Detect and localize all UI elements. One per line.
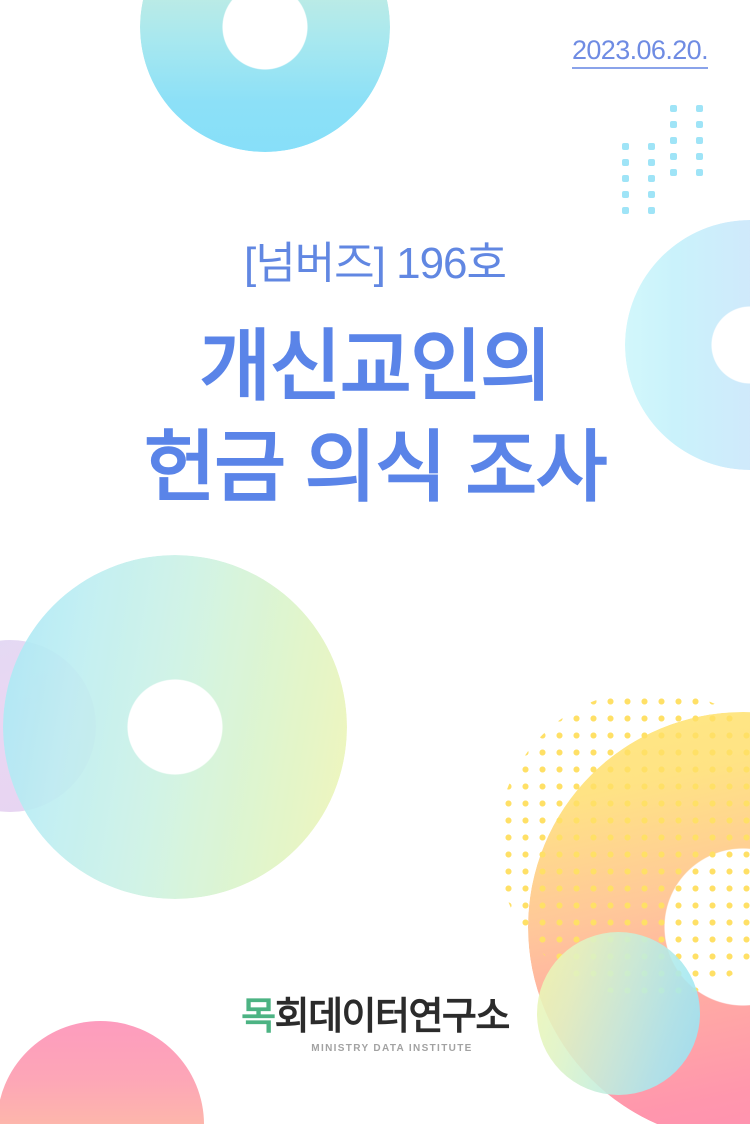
grid-dot xyxy=(670,169,677,176)
issue-label: [넘버즈] 196호 xyxy=(0,238,750,290)
grid-dot xyxy=(696,137,703,144)
grid-dot xyxy=(648,175,655,182)
grid-dot xyxy=(696,169,703,176)
logo-wordmark: 목회데이터연구소 xyxy=(0,998,750,1038)
grid-dot xyxy=(622,175,629,182)
publication-date: 2023.06.20. xyxy=(572,36,708,69)
grid-dot xyxy=(622,191,629,198)
donut-mid-left-decoration xyxy=(3,555,347,899)
logo-accent-char: 목 xyxy=(241,996,274,1038)
grid-dot xyxy=(648,191,655,198)
grid-dot xyxy=(648,143,655,150)
grid-dot xyxy=(622,207,629,214)
grid-dot xyxy=(670,137,677,144)
grid-dot xyxy=(622,159,629,166)
grid-dot xyxy=(648,207,655,214)
grid-dot xyxy=(648,159,655,166)
grid-dot xyxy=(696,153,703,160)
page-title-line-2: 헌금 의식 조사 xyxy=(0,417,750,518)
logo-wordmark-rest: 회데이터연구소 xyxy=(275,996,509,1038)
donut-bottom-right-decoration xyxy=(528,712,750,1124)
grid-dot xyxy=(670,121,677,128)
page-title: 개신교인의 헌금 의식 조사 xyxy=(0,316,750,519)
poster-cover: 2023.06.20. [넘버즈] 196호 개신교인의 헌금 의식 조사 목회… xyxy=(0,0,750,1124)
donut-top-left-decoration xyxy=(140,0,390,152)
dot-column xyxy=(622,143,629,223)
dot-column xyxy=(648,143,655,223)
grid-dot xyxy=(622,143,629,150)
headline-block: [넘버즈] 196호 개신교인의 헌금 의식 조사 xyxy=(0,238,750,519)
grid-dot xyxy=(670,105,677,112)
grid-dot xyxy=(670,153,677,160)
circle-purple-decoration xyxy=(0,640,96,812)
logo: 목회데이터연구소 MINISTRY DATA INSTITUTE xyxy=(0,998,750,1054)
grid-dot xyxy=(696,121,703,128)
page-title-line-1: 개신교인의 xyxy=(0,316,750,417)
dot-grid-decoration xyxy=(612,95,712,225)
grid-dot xyxy=(696,105,703,112)
dot-column xyxy=(696,105,703,185)
polka-dot-circle-decoration xyxy=(497,690,750,998)
dot-column xyxy=(670,105,677,185)
publication-date-text: 2023.06.20. xyxy=(572,36,708,69)
logo-subtitle: MINISTRY DATA INSTITUTE xyxy=(0,1043,750,1054)
